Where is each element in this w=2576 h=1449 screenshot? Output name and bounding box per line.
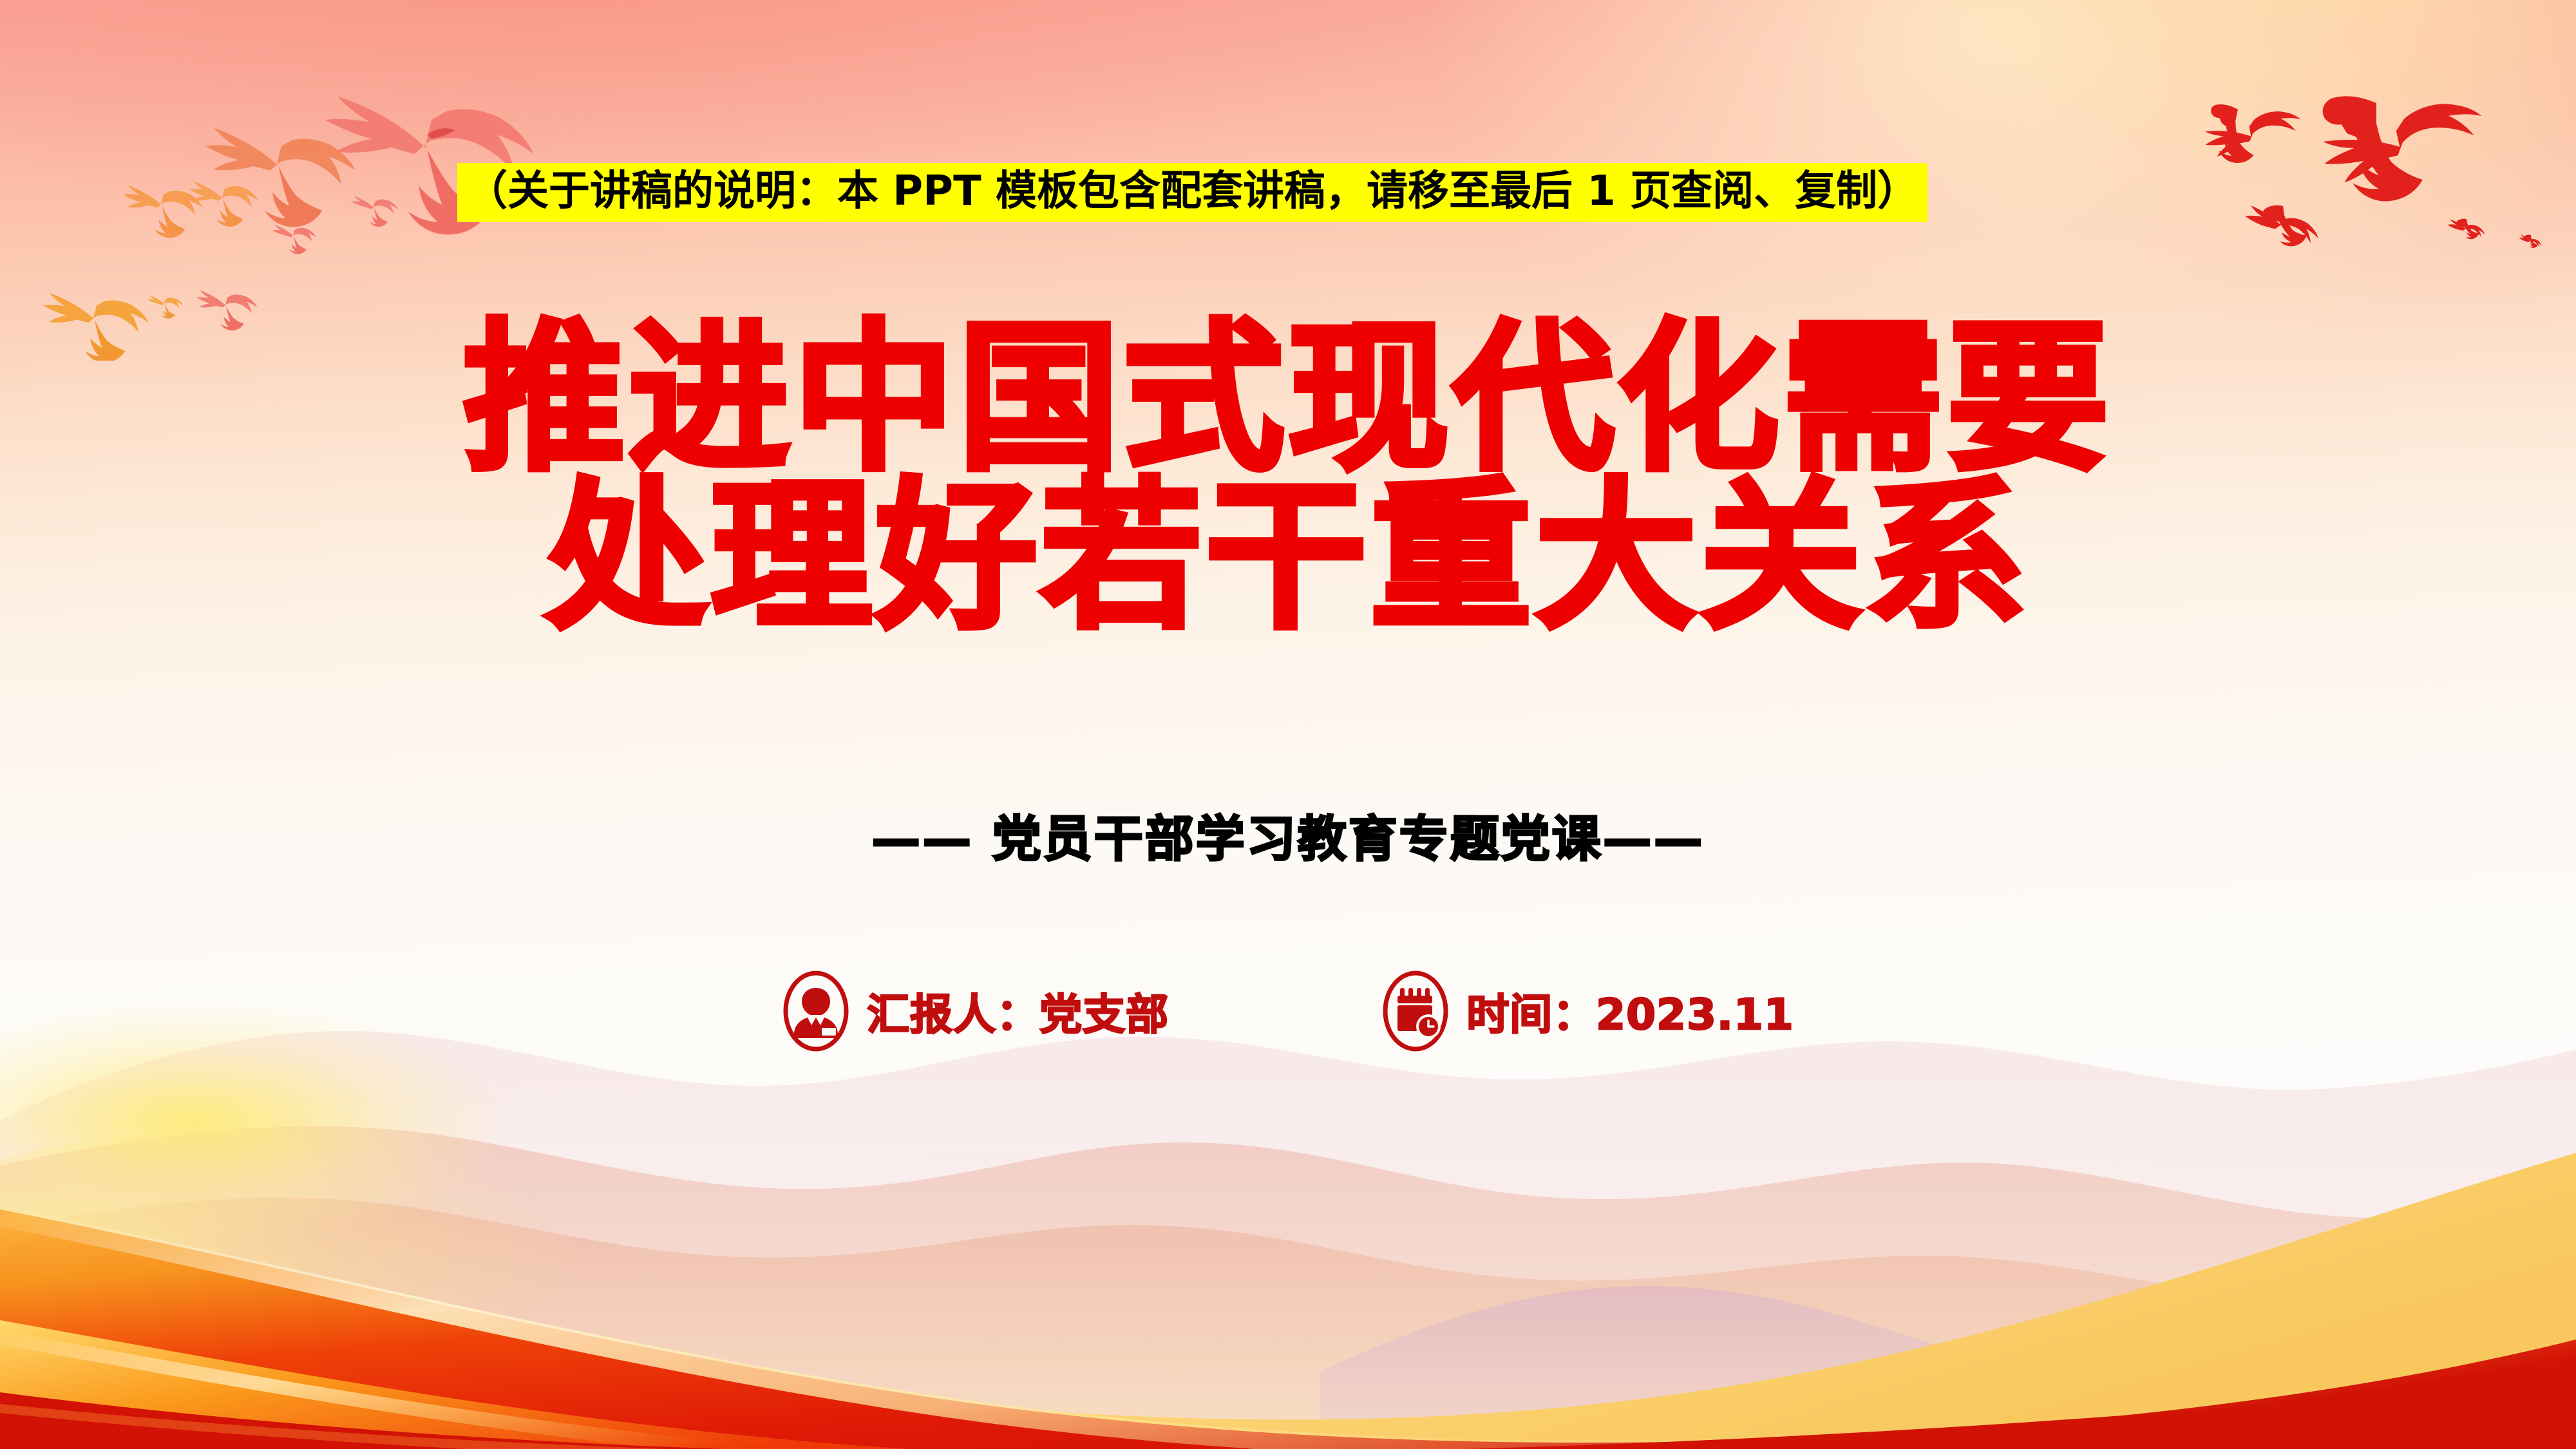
page-title-line-1: 推进中国式现代化需要 xyxy=(0,319,2576,478)
speech-note-text: （关于讲稿的说明：本 PPT 模板包含配套讲稿，请移至最后 1 页查阅、复制） xyxy=(466,167,1918,215)
page-title-line-2: 处理好若干重大关系 xyxy=(0,478,2576,636)
presenter-label: 汇报人：党支部 xyxy=(867,980,1169,1042)
presenter-person-icon xyxy=(782,970,850,1052)
presenter-info: 汇报人：党支部 xyxy=(782,970,1169,1052)
page-title: 推进中国式现代化需要 处理好若干重大关系 xyxy=(0,319,2576,636)
date-label: 时间：2023.11 xyxy=(1466,980,1794,1042)
meta-row: 汇报人：党支部 xyxy=(0,970,2576,1052)
speech-note-banner: （关于讲稿的说明：本 PPT 模板包含配套讲稿，请移至最后 1 页查阅、复制） xyxy=(457,163,1927,222)
page-subtitle: —— 党员干部学习教育专题党课—— xyxy=(0,810,2576,868)
slide-canvas: （关于讲稿的说明：本 PPT 模板包含配套讲稿，请移至最后 1 页查阅、复制） … xyxy=(0,0,2576,1449)
date-info: 时间：2023.11 xyxy=(1381,970,1794,1052)
calendar-clock-icon xyxy=(1381,970,1450,1052)
flying-doves-icon-top-right xyxy=(2106,6,2576,264)
